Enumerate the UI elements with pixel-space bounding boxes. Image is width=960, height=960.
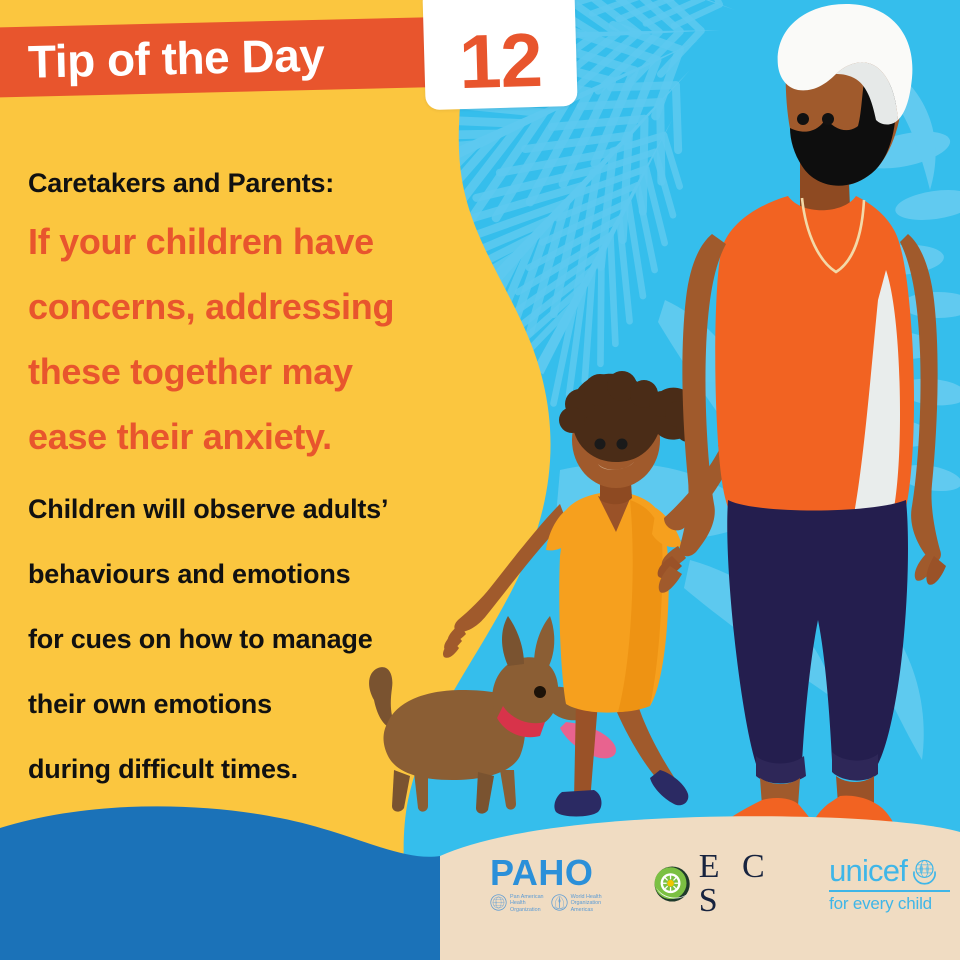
highlight-line: concerns, addressing (28, 274, 488, 339)
partner-logo-strip: PAHO Pan American Health (490, 844, 950, 924)
ecs-sun-mark-icon (653, 863, 691, 905)
paho-org-one-text: Pan American Health Organization (510, 894, 544, 913)
highlight-line: If your children have (28, 209, 488, 274)
unicef-wordmark: unicef (829, 855, 907, 886)
tip-body-block: Children will observe adults’ behaviours… (28, 477, 488, 802)
tip-of-the-day-poster: Tip of the Day 12 Caretakers and Parents… (0, 0, 960, 960)
body-line: behaviours and emotions (28, 542, 488, 607)
paho-logo: PAHO Pan American Health (490, 855, 627, 913)
body-line: Children will observe adults’ (28, 477, 488, 542)
unicef-emblem-icon (910, 856, 939, 885)
tip-lead-line: Caretakers and Parents: (28, 168, 488, 199)
pan-american-health-organization: Pan American Health Organization (490, 894, 544, 913)
day-number-badge: 12 (422, 0, 577, 110)
unicef-top-row: unicef (829, 855, 950, 886)
tip-of-the-day-banner: Tip of the Day (0, 16, 486, 98)
paho-seal-icon (490, 894, 507, 911)
paho-org-two-text: World Health Organization Americas (571, 894, 602, 913)
unicef-logo: unicef for every child (829, 855, 950, 913)
day-number: 12 (423, 22, 577, 102)
body-line: for cues on how to manage (28, 607, 488, 672)
ecs-logo: E C S (653, 850, 803, 918)
who-seal-icon (551, 894, 568, 911)
body-line: during difficult times. (28, 737, 488, 802)
unicef-divider (829, 890, 950, 892)
highlight-line: ease their anxiety. (28, 404, 488, 469)
body-line: their own emotions (28, 672, 488, 737)
tip-text-column: Caretakers and Parents: If your children… (28, 168, 488, 802)
ecs-wordmark: E C S (699, 850, 803, 918)
banner-title: Tip of the Day (27, 30, 324, 87)
highlight-line: these together may (28, 339, 488, 404)
paho-sub-organizations: Pan American Health Organization Worl (490, 894, 627, 913)
paho-wordmark: PAHO (490, 855, 627, 891)
world-health-organization: World Health Organization Americas (551, 894, 602, 913)
tip-highlight-block: If your children have concerns, addressi… (28, 209, 488, 469)
unicef-tagline: for every child (829, 895, 950, 913)
